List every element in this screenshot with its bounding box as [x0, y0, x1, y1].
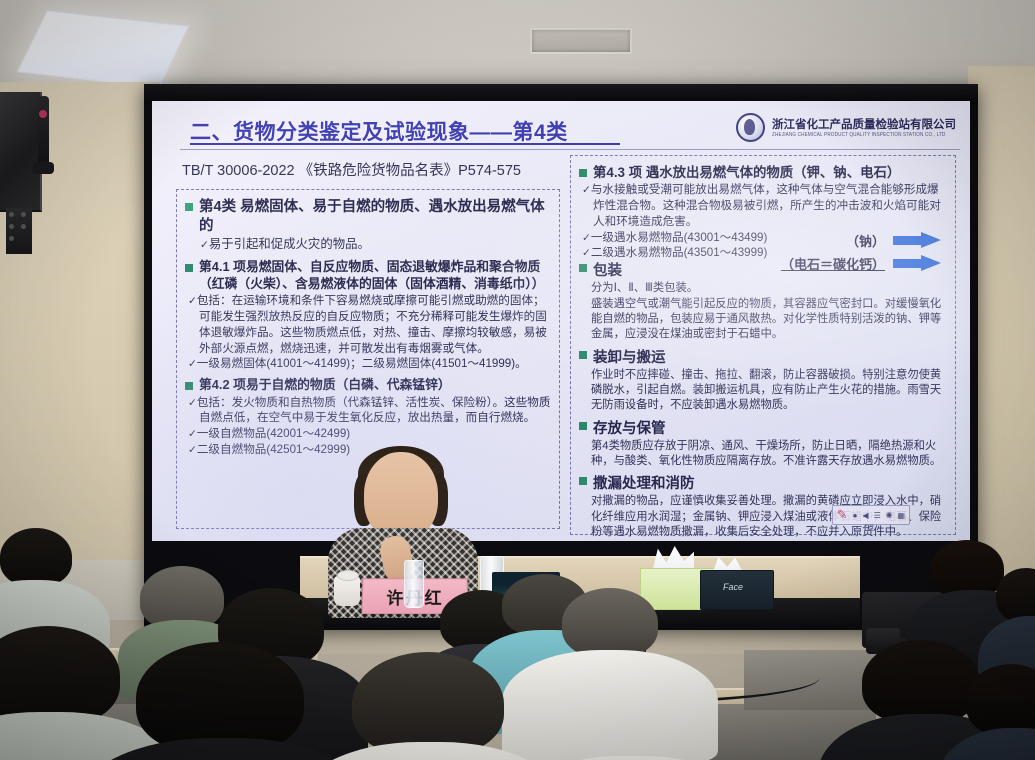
storage-heading: 存放与保管 — [593, 417, 666, 438]
speaker-mount-bracket — [6, 208, 32, 254]
tea-cup — [334, 576, 360, 606]
right-arrow-icon — [893, 255, 941, 272]
class4-check-note: 易于引起和促成火灾的物品。 — [211, 236, 551, 253]
title-divider — [180, 149, 960, 150]
bullet-square-icon — [579, 264, 587, 272]
item41-body: 包括：在运输环境和条件下容易燃烧或摩擦可能引燃或助燃的固体；可能发生强烈放热反应… — [199, 293, 551, 356]
item41-heading: 第4.1 项易燃固体、自反应物质、固态退敏爆炸品和聚合物质（红磷（火柴）、含易燃… — [199, 259, 551, 292]
bullet-square-icon — [579, 477, 587, 485]
bullet-square-icon — [579, 422, 587, 430]
bullet-storage: 存放与保管 — [579, 417, 947, 438]
arrow1-label: （钠） — [846, 231, 885, 250]
pen-icon[interactable]: ✎ — [837, 507, 848, 523]
slide-right-column: 第4.3 项 遇水放出易燃气体的物质（钾、钠、电石） 与水接触或受潮可能放出易燃… — [570, 155, 956, 535]
screenshot-root: 二、货物分类鉴定及试验现象——第4类 浙江省化工产品质量检验站有限公司 ZHEJ… — [0, 0, 1035, 760]
tissue-box-face-brand — [700, 570, 774, 610]
highlighter-icon[interactable]: ✺ — [886, 511, 893, 520]
item42-heading: 第4.2 项易于自燃的物质（白磷、代森锰锌） — [199, 377, 451, 394]
bullet-item-41: 第4.1 项易燃固体、自反应物质、固态退敏爆炸品和聚合物质（红磷（火柴）、含易燃… — [185, 259, 551, 292]
bullet-spill: 撒漏处理和消防 — [579, 472, 947, 493]
item43-heading: 第4.3 项 遇水放出易燃气体的物质（钾、钠、电石） — [593, 164, 900, 181]
handling-body: 作业时不应摔碰、撞击、拖拉、翻滚，防止容器破损。特别注意勿使黄磷脱水，引起自燃。… — [591, 368, 947, 414]
ppt-presenter-toolbar[interactable]: ✎ ● ◀ ☰ ✺ ▦ — [832, 505, 910, 525]
handling-heading: 装卸与搬运 — [593, 346, 666, 367]
company-logo: 浙江省化工产品质量检验站有限公司 ZHEJIANG CHEMICAL PRODU… — [736, 113, 956, 142]
bullet-packing: 包装 — [579, 259, 947, 280]
item41-codes: 一级易燃固体(41001～41499)；二级易燃固体(41501～41999)。 — [199, 356, 551, 372]
item43-body: 与水接触或受潮可能放出易燃气体，这种气体与空气混合能够形成爆炸性混合物。这种混合… — [593, 182, 947, 229]
company-emblem-icon — [736, 113, 765, 142]
spill-heading: 撒漏处理和消防 — [593, 472, 695, 493]
company-name-cn: 浙江省化工产品质量检验站有限公司 — [772, 119, 956, 131]
bullet-square-icon — [579, 351, 587, 359]
laser-pointer-icon[interactable]: ● — [853, 511, 858, 520]
slide-menu-icon[interactable]: ☰ — [874, 511, 881, 520]
bullet-item-42: 第4.2 项易于自燃的物质（白磷、代森锰锌） — [185, 377, 551, 394]
slide-page-number: 52 — [864, 523, 874, 533]
standard-reference-line: TB/T 30006-2022 《铁路危险货物品名表》P574-575 — [182, 159, 521, 180]
storage-body: 第4类物质应存放于阴凉、通风、干燥场所，防止日晒，隔绝热源和火种，与酸类、氧化性… — [591, 439, 947, 470]
packing-body1: 分为Ⅰ、Ⅱ、Ⅲ类包装。 — [591, 281, 947, 296]
slide-grid-icon[interactable]: ▦ — [897, 511, 905, 520]
arrow2-label: （电石＝碳化钙） — [781, 254, 885, 273]
bullet-square-icon — [579, 169, 587, 177]
item42-body: 包括：发火物质和自热物质（代森锰锌、活性炭、保险粉）。这些物质自燃点低，在空气中… — [199, 395, 551, 427]
slide-title: 二、货物分类鉴定及试验现象——第4类 — [190, 116, 568, 146]
title-underline — [190, 143, 620, 145]
water-bottle — [404, 560, 424, 608]
packing-body2: 盛装遇空气或潮气能引起反应的物质，其容器应气密封口。对缓慢氧化能自燃的物品，包装… — [591, 297, 947, 343]
bullet-square-icon — [185, 203, 193, 211]
bullet-square-icon — [185, 264, 193, 272]
company-name-en: ZHEJIANG CHEMICAL PRODUCT QUALITY INSPEC… — [772, 131, 956, 137]
class4-heading: 第4类 易燃固体、易于自燃的物质、遇水放出易燃气体的 — [199, 198, 551, 235]
table-microphone — [38, 96, 49, 168]
item42-code1: 一级自燃物品(42001～42499) — [199, 426, 551, 442]
presenter-head — [364, 452, 438, 540]
presentation-slide[interactable]: 二、货物分类鉴定及试验现象——第4类 浙江省化工产品质量检验站有限公司 ZHEJ… — [152, 101, 970, 541]
previous-slide-icon[interactable]: ◀ — [862, 511, 868, 520]
bullet-class4: 第4类 易燃固体、易于自燃的物质、遇水放出易燃气体的 — [185, 198, 551, 235]
bullet-handling: 装卸与搬运 — [579, 346, 947, 367]
ceiling-air-vent — [530, 28, 632, 54]
right-arrow-icon — [893, 232, 941, 249]
bullet-square-icon — [185, 382, 193, 390]
packing-heading: 包装 — [593, 259, 622, 280]
wall-speaker — [0, 92, 42, 212]
microphone-led-icon — [39, 110, 47, 118]
bullet-item-43: 第4.3 项 遇水放出易燃气体的物质（钾、钠、电石） — [579, 164, 947, 181]
